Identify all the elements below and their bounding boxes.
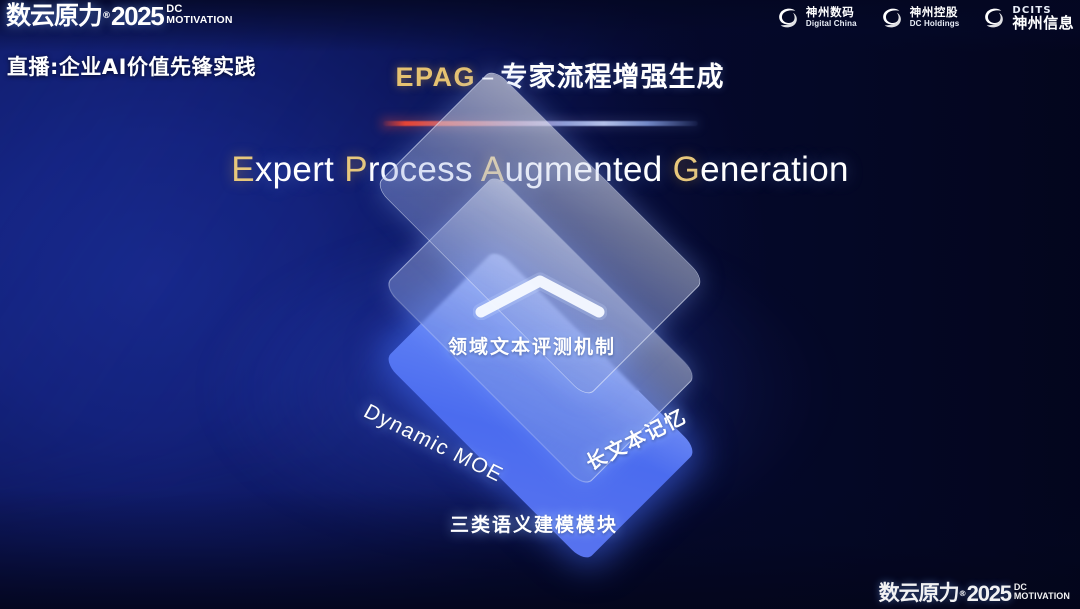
partner-logo-dc-holdings-text: 神州控股 DC Holdings (910, 7, 960, 29)
event-logo-registered-mark: ® (102, 2, 110, 30)
partner-name-cn: 神州信息 (1012, 16, 1074, 31)
event-logo-dc-line1: DC (166, 4, 232, 15)
slide-canvas: 数云原力 ® 2025 DC MOTIVATION 直播:企业AI价值先锋实践 … (0, 0, 1080, 609)
event-logo-dc-line2: MOTIVATION (166, 15, 232, 26)
watermark-dc-line2: MOTIVATION (1014, 592, 1070, 601)
english-cap-p: P (344, 150, 368, 189)
english-rest-expert: xpert (255, 150, 334, 189)
swirl-logo-icon (879, 5, 905, 31)
slide-title-chinese: 专家流程增强生成 (501, 62, 725, 93)
english-cap-g: G (673, 150, 701, 189)
english-cap-e: E (231, 150, 255, 189)
english-rest-generation: eneration (700, 150, 849, 189)
watermark-brand-cn: 数云原力 (879, 582, 959, 605)
partner-logo-dcits-text: DCITS 神州信息 (1012, 4, 1074, 31)
partner-logo-dc-holdings: 神州控股 DC Holdings (879, 5, 960, 31)
partner-name-en: Digital China (806, 20, 857, 28)
footer-watermark: 数云原力 ® 2025 DC MOTIVATION (879, 582, 1070, 605)
swirl-logo-icon (981, 5, 1007, 31)
slide-title-acronym: EPAG (395, 62, 476, 92)
partner-logo-digital-china: 神州数码 Digital China (775, 5, 857, 31)
watermark-registered-mark: ® (959, 582, 966, 605)
partner-name-cn: 神州控股 (910, 7, 960, 19)
chevron-up-icon (473, 272, 607, 320)
partner-logo-dcits: DCITS 神州信息 (981, 4, 1074, 31)
watermark-year: 2025 (967, 582, 1011, 605)
partner-logo-bar: 神州数码 Digital China 神州控股 DC Holdings DCIT… (775, 4, 1074, 31)
event-logo-year: 2025 (111, 2, 163, 30)
watermark-dc-motivation: DC MOTIVATION (1014, 583, 1070, 601)
swirl-logo-icon (775, 5, 801, 31)
slide-title: EPAG–专家流程增强生成 (0, 55, 1080, 94)
event-logo-dc-motivation: DC MOTIVATION (166, 4, 232, 25)
partner-logo-digital-china-text: 神州数码 Digital China (806, 7, 857, 29)
partner-name-en: DC Holdings (910, 20, 960, 28)
event-logo-brand-cn: 数云原力 (6, 2, 102, 30)
partner-name-cn: 神州数码 (806, 7, 857, 19)
event-logo: 数云原力 ® 2025 DC MOTIVATION (6, 2, 233, 30)
